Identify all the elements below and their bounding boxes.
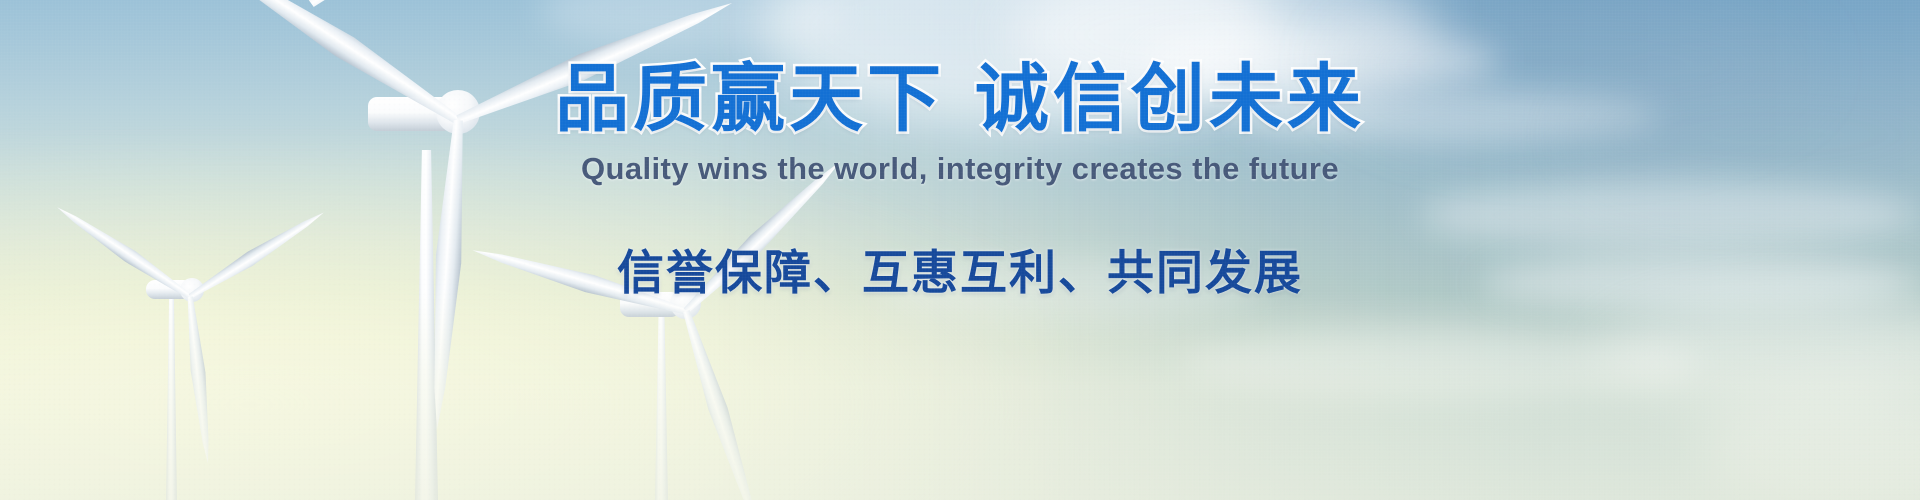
promo-banner: 品质赢天下 诚信创未来 Quality wins the world, inte… — [0, 0, 1920, 500]
banner-subtitle-en: Quality wins the world, integrity create… — [0, 151, 1920, 187]
banner-copy: 品质赢天下 诚信创未来 Quality wins the world, inte… — [0, 60, 1920, 303]
banner-tagline-cn: 信誉保障、互惠互利、共同发展 — [0, 234, 1920, 303]
banner-headline-cn: 品质赢天下 诚信创未来 — [0, 60, 1920, 138]
sky-bottom-haze — [0, 290, 1920, 500]
